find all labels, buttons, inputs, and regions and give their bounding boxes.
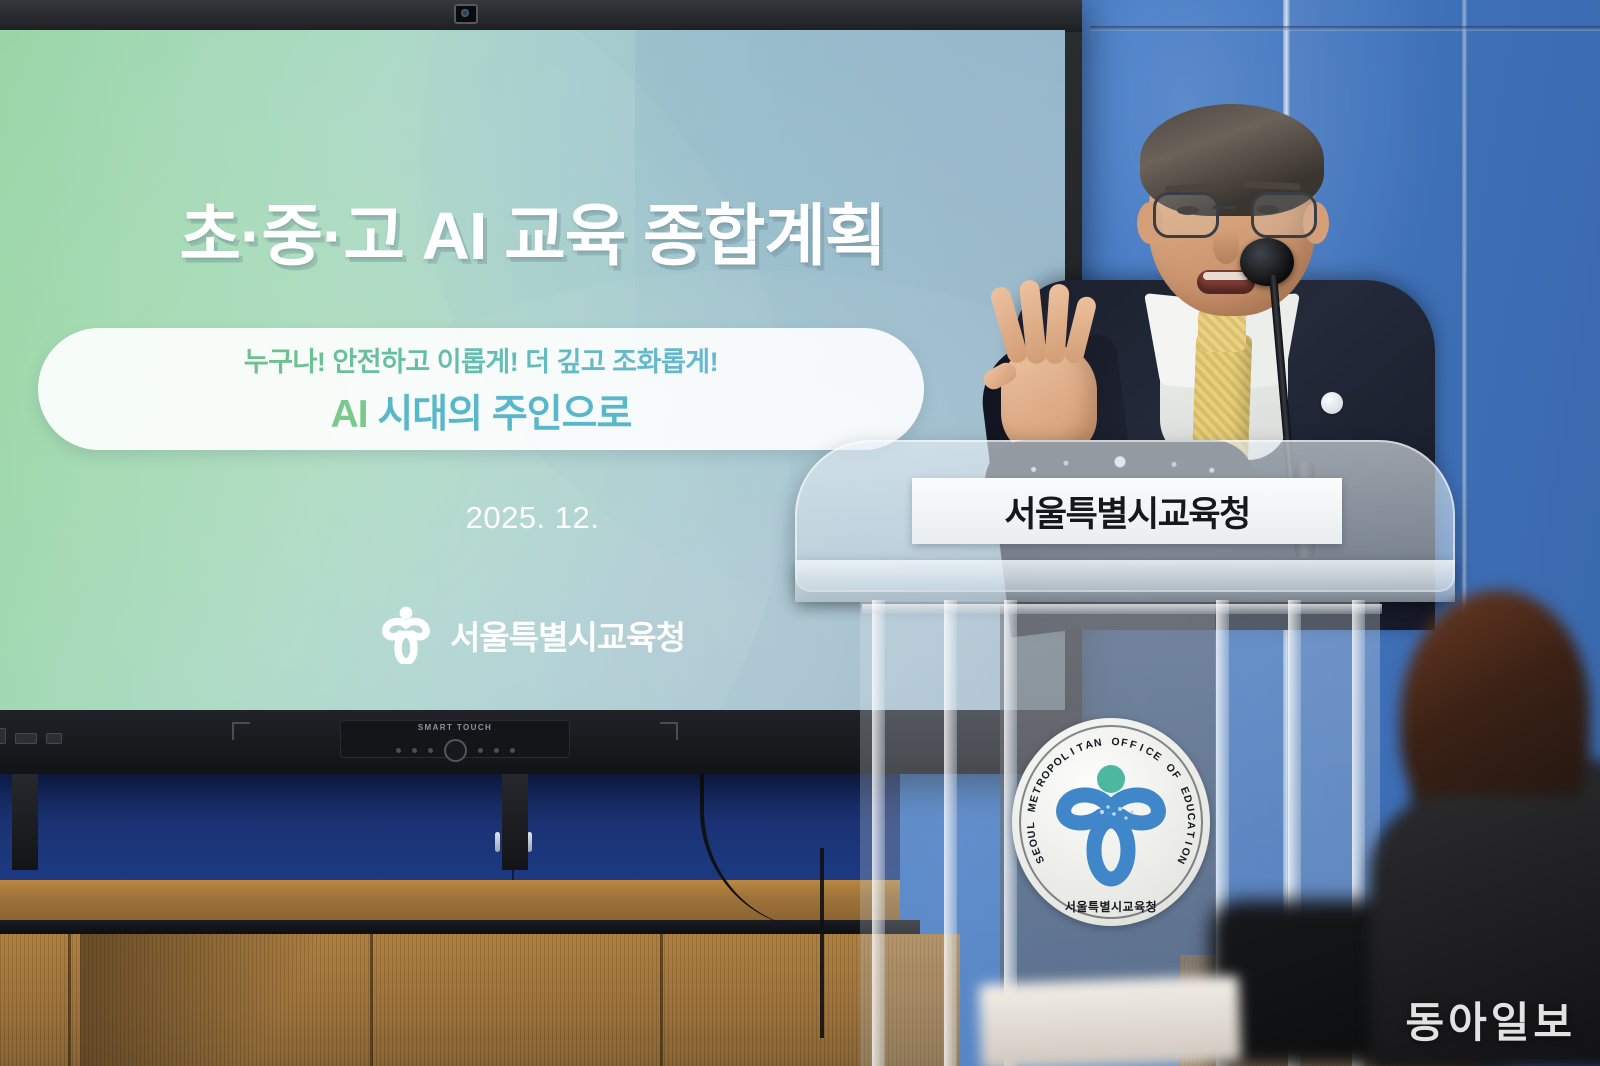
teeth — [1203, 272, 1249, 280]
display-brand-label: SMART TOUCH — [340, 723, 570, 732]
emblem-letter — [1025, 815, 1037, 819]
emblem-letter: I — [1182, 840, 1194, 846]
emblem-letter: T — [1184, 830, 1197, 838]
emblem-inner-text: 서울특별시교육청 — [1012, 898, 1210, 915]
podium-nameplate: 서울특별시교육청 — [912, 478, 1342, 544]
foreground-papers — [979, 975, 1242, 1066]
wood-paneling — [0, 934, 960, 1066]
display-button[interactable] — [494, 748, 499, 753]
wood-panel-divider — [660, 934, 663, 1066]
podium-leg — [944, 600, 957, 1066]
display-button[interactable] — [428, 748, 433, 753]
wall-seam-horizontal — [1090, 26, 1600, 31]
wall-seam-vertical-2 — [1462, 0, 1467, 620]
raised-hand — [985, 280, 1115, 455]
display-top-bezel — [0, 0, 1082, 32]
display-ports[interactable] — [0, 728, 62, 744]
slide-headline-ai: AI — [331, 393, 368, 436]
slide-tagline-pill: 누구나! 안전하고 이롭게! 더 깊고 조화롭게! AI 시대의 주인으로 — [38, 328, 924, 450]
eyeglass-lens-left — [1153, 192, 1219, 238]
bezel-corner-mark — [232, 722, 250, 740]
nose — [1213, 230, 1239, 264]
emblem-letter — [1105, 736, 1109, 748]
microphone-windscreen-icon — [1240, 238, 1294, 286]
display-stand-leg-right — [502, 774, 528, 870]
emblem-letter: C — [1185, 812, 1197, 820]
emblem-letter: N — [1093, 737, 1102, 750]
podium-deck — [795, 560, 1455, 602]
seoul-education-trefoil-icon — [1046, 762, 1176, 887]
wood-panel-divider — [370, 934, 373, 1066]
display-button[interactable] — [396, 748, 401, 753]
display-stand-leg-left — [12, 774, 38, 870]
podium-emblem: SEOUL METROPOLITAN OFFICE OF EDUCATION 서… — [1012, 718, 1210, 926]
emblem-letter: I — [1068, 746, 1076, 758]
slide-headline-rest: 시대의 주인으로 — [368, 393, 632, 436]
emblem-letter: M — [1026, 802, 1039, 813]
display-button[interactable] — [412, 748, 417, 753]
podium-nameplate-text: 서울특별시교육청 — [1004, 486, 1250, 537]
podium-brace — [862, 604, 1382, 614]
lapel-pin — [1321, 392, 1343, 414]
hdmi-port[interactable] — [15, 733, 37, 744]
usb-port[interactable] — [0, 728, 6, 744]
emblem-letter: F — [1120, 737, 1128, 750]
watermark: 동아일보 — [1405, 989, 1576, 1050]
display-buttons[interactable] — [340, 739, 570, 762]
emblem-letter: O — [1111, 736, 1120, 748]
podium-leg — [872, 600, 885, 1066]
usb-c-port[interactable] — [46, 733, 62, 744]
eyeglass-lens-right — [1251, 192, 1317, 238]
display-power-dial[interactable] — [444, 739, 467, 762]
emblem-letter: F — [1128, 738, 1137, 751]
bezel-corner-mark — [660, 722, 678, 740]
display-button[interactable] — [478, 748, 483, 753]
eyeglass-bridge — [1213, 206, 1235, 209]
slide-title: 초·중·고 AI 교육 종합계획 — [0, 182, 1065, 279]
slide-org-name: 서울특별시교육청 — [450, 611, 685, 659]
webcam-icon — [454, 4, 478, 24]
display-button[interactable] — [510, 748, 515, 753]
emblem-letter: A — [1185, 821, 1197, 829]
wood-panel-divider — [68, 934, 71, 1066]
emblem-letter: U — [1183, 803, 1196, 813]
slide-tagline: 누구나! 안전하고 이롭게! 더 깊고 조화롭게! — [244, 340, 718, 379]
cabinet-handle-left[interactable] — [495, 832, 500, 852]
display-control-panel[interactable]: SMART TOUCH — [340, 720, 570, 758]
wood-shadow — [80, 934, 360, 1066]
press-briefing-photo: 초·중·고 AI 교육 종합계획 누구나! 안전하고 이롭게! 더 깊고 조화롭… — [0, 0, 1600, 1066]
eyeglasses-icon — [1153, 192, 1311, 232]
emblem-letter: L — [1025, 822, 1037, 829]
slide-headline: AI 시대의 주인으로 — [331, 383, 632, 439]
seoul-education-trefoil-icon — [380, 606, 432, 664]
